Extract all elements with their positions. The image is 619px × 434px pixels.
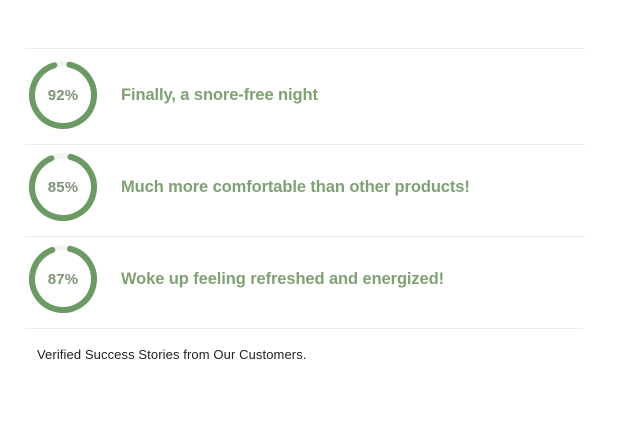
list-item[interactable]: 87% Woke up feeling refreshed and energi…: [0, 233, 619, 325]
stat-label: Finally, a snore-free night: [121, 86, 318, 105]
progress-ring-85: 85%: [25, 149, 101, 225]
divider-row-3: [25, 328, 583, 329]
list-item[interactable]: 92% Finally, a snore-free night: [0, 49, 619, 141]
stat-label: Much more comfortable than other product…: [121, 178, 470, 197]
progress-ring-92: 92%: [25, 57, 101, 133]
progress-ring-percent: 92%: [25, 57, 101, 133]
list-item[interactable]: 85% Much more comfortable than other pro…: [0, 141, 619, 233]
progress-ring-87: 87%: [25, 241, 101, 317]
panel-caption: Verified Success Stories from Our Custom…: [37, 347, 307, 362]
progress-ring-percent: 87%: [25, 241, 101, 317]
footer-ghost-area: [0, 400, 619, 434]
progress-ring-percent: 85%: [25, 149, 101, 225]
stat-label: Woke up feeling refreshed and energized!: [121, 270, 444, 289]
stats-list: 92% Finally, a snore-free night 85% Much…: [0, 49, 619, 325]
testimonial-stats-panel: 92% Finally, a snore-free night 85% Much…: [0, 0, 619, 434]
